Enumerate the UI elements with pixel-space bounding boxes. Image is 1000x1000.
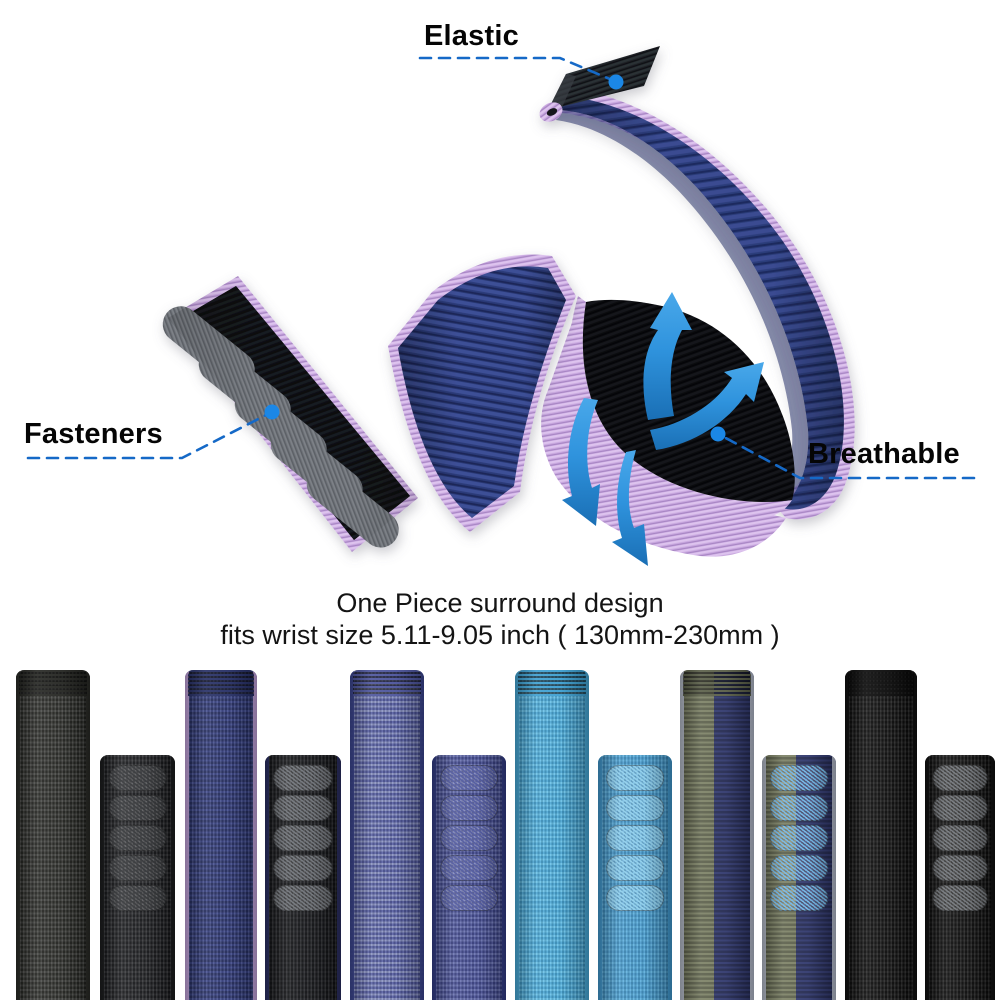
swatch-navy-lavender-loop[interactable] [185, 670, 257, 1000]
swatch-sky-blue-fastener[interactable] [598, 755, 672, 1000]
callout-label-elastic: Elastic [424, 22, 519, 51]
swatch-navy-lavender-fastener[interactable] [265, 755, 341, 1000]
swatch-weave [16, 670, 90, 1000]
swatch-periwinkle-loop[interactable] [350, 670, 424, 1000]
swatch-charcoal-black-loop[interactable] [16, 670, 90, 1000]
swatch-weave [185, 670, 257, 1000]
swatch-edge-right [585, 670, 589, 1000]
swatch-weave [350, 670, 424, 1000]
swatch-weave [845, 670, 917, 1000]
swatch-edge-right [337, 755, 341, 1000]
swatch-edge-left [845, 670, 849, 1000]
fastener-pad [606, 885, 664, 911]
swatch-sky-blue-loop[interactable] [515, 670, 589, 1000]
swatch-top-cap [848, 670, 914, 696]
leader-dot-fasteners [265, 405, 280, 420]
swatch-edge-left [265, 755, 269, 1000]
swatch-edge-left [432, 755, 436, 1000]
swatch-fastener-pads [606, 755, 664, 911]
fastener-pad [933, 825, 988, 851]
fastener-pad [606, 765, 664, 791]
swatch-edge-right [991, 755, 995, 1000]
swatch-edge-left [185, 670, 189, 1000]
fastener-pad [273, 795, 332, 821]
fastener-pad [770, 765, 828, 791]
swatch-fastener-pads [273, 755, 332, 911]
fastener-pad [933, 885, 988, 911]
swatch-top-cap [19, 670, 87, 696]
fastener-pad [606, 795, 664, 821]
swatch-edge-left [925, 755, 929, 1000]
swatch-edge-left [680, 670, 684, 1000]
swatch-weave [680, 670, 754, 1000]
fastener-pad [770, 855, 828, 881]
swatch-fastener-pads [108, 755, 167, 911]
fastener-pad [770, 885, 828, 911]
fastener-pad [273, 855, 332, 881]
callout-label-breathable: Breathable [808, 440, 960, 469]
swatch-edge-right [502, 755, 506, 1000]
swatch-weave [515, 670, 589, 1000]
swatch-black-fastener[interactable] [925, 755, 995, 1000]
swatch-top-cap [518, 670, 586, 696]
swatch-edge-left [350, 670, 354, 1000]
swatch-edge-right [750, 670, 754, 1000]
swatch-edge-right [832, 755, 836, 1000]
fastener-pad [770, 795, 828, 821]
leader-dot-breathable [711, 427, 726, 442]
band-left-arm-fasteners [155, 276, 418, 555]
fastener-pad [440, 855, 498, 881]
fastener-pad [108, 885, 167, 911]
caption-line-1: One Piece surround design [0, 588, 1000, 620]
fastener-pad [606, 825, 664, 851]
swatch-fastener-pads [933, 755, 988, 911]
swatch-fastener-pads [770, 755, 828, 911]
swatch-fastener-pads [440, 755, 498, 911]
swatch-top-cap [188, 670, 254, 696]
fastener-pad [933, 795, 988, 821]
fastener-pad [440, 825, 498, 851]
swatch-top-cap [683, 670, 751, 696]
fastener-pad [440, 885, 498, 911]
swatch-edge-left [762, 755, 766, 1000]
callout-label-fasteners: Fasteners [24, 420, 163, 449]
swatch-top-cap [353, 670, 421, 696]
swatch-edge-left [515, 670, 519, 1000]
swatch-periwinkle-fastener[interactable] [432, 755, 506, 1000]
fastener-pad [108, 765, 167, 791]
swatch-olive-navy-fastener[interactable] [762, 755, 836, 1000]
band-illustration-svg [0, 0, 1000, 665]
swatch-edge-left [16, 670, 20, 1000]
swatch-edge-right [668, 755, 672, 1000]
fastener-pad [933, 765, 988, 791]
fastener-pad [108, 855, 167, 881]
swatch-edge-right [913, 670, 917, 1000]
hero-product-illustration: Elastic Fasteners Breathable One Piece s… [0, 0, 1000, 665]
swatch-olive-navy-loop[interactable] [680, 670, 754, 1000]
fastener-pad [273, 885, 332, 911]
swatch-edge-right [253, 670, 257, 1000]
infographic-canvas: Elastic Fasteners Breathable One Piece s… [0, 0, 1000, 1000]
swatch-edge-right [86, 670, 90, 1000]
fastener-pad [440, 795, 498, 821]
fastener-pad [440, 765, 498, 791]
swatch-charcoal-black-fastener[interactable] [100, 755, 175, 1000]
caption-line-2: fits wrist size 5.11-9.05 inch ( 130mm-2… [0, 620, 1000, 652]
fastener-pad [108, 795, 167, 821]
fastener-pad [770, 825, 828, 851]
swatch-edge-right [420, 670, 424, 1000]
fastener-pad [108, 825, 167, 851]
fastener-pad [933, 855, 988, 881]
swatch-edge-left [100, 755, 104, 1000]
color-variant-swatch-row [0, 665, 1000, 1000]
swatch-edge-right [171, 755, 175, 1000]
swatch-black-loop[interactable] [845, 670, 917, 1000]
leader-dot-elastic [609, 75, 624, 90]
fastener-pad [606, 855, 664, 881]
fastener-pad [273, 825, 332, 851]
fastener-pad [273, 765, 332, 791]
swatch-edge-left [598, 755, 602, 1000]
